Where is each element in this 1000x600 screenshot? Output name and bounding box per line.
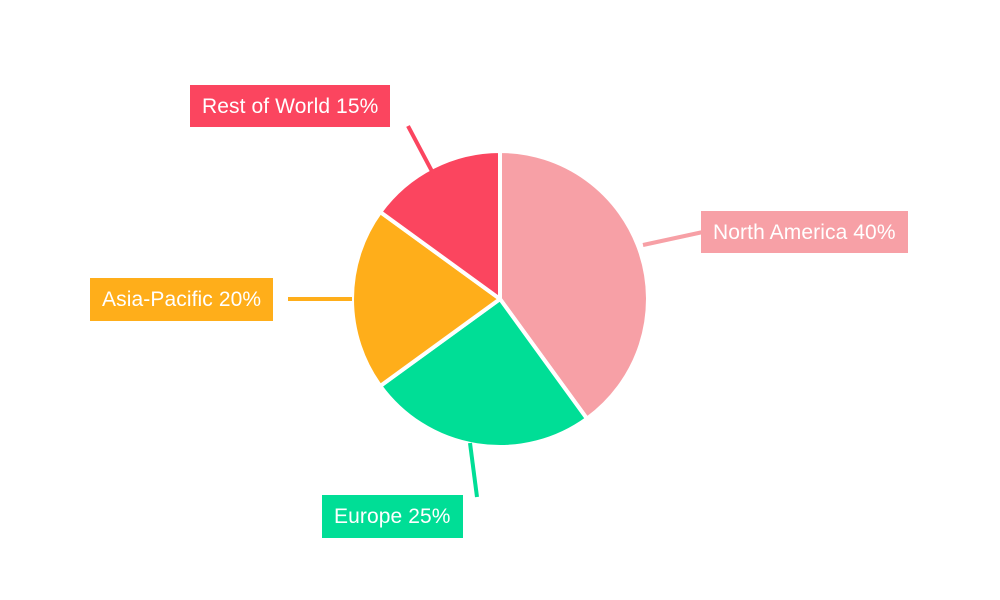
leader-line-rest-of-world [408,126,435,177]
pie-label-rest-of-world[interactable]: Rest of World 15% [190,85,390,127]
pie-label-asia-pacific[interactable]: Asia-Pacific 20% [90,278,273,321]
leader-line-europe [470,443,477,497]
leader-line-north-america [643,232,703,245]
pie-label-europe[interactable]: Europe 25% [322,495,463,538]
pie-slices [352,151,648,447]
pie-chart: North America 40% Europe 25% Asia-Pacifi… [0,0,1000,600]
pie-label-north-america[interactable]: North America 40% [701,211,908,253]
